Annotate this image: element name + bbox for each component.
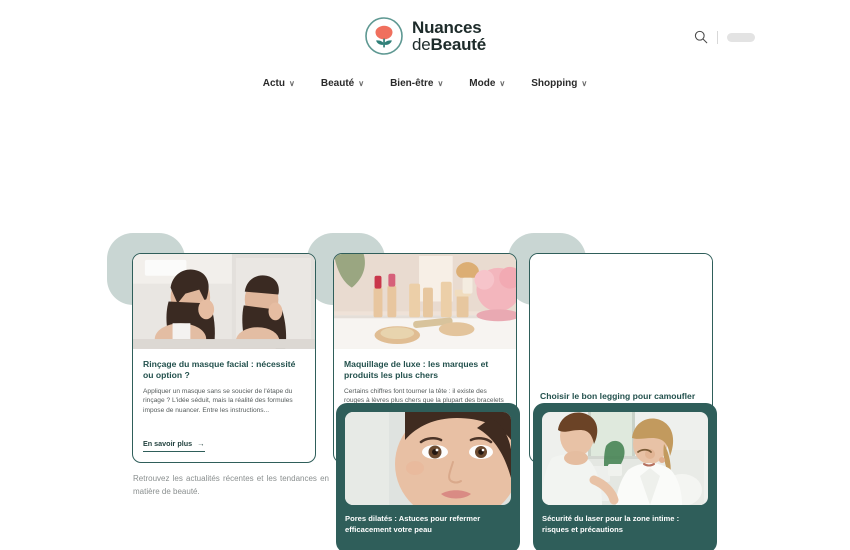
card-excerpt: Appliquer un masque sans se soucier de l… bbox=[143, 387, 305, 416]
site-logo[interactable]: Nuances deBeauté bbox=[364, 16, 486, 56]
nav-item-label: Beauté bbox=[321, 78, 354, 89]
account-pill-placeholder[interactable] bbox=[727, 33, 755, 42]
card-cta-wrap: En savoir plus → bbox=[133, 433, 315, 462]
logo-wordmark: Nuances deBeauté bbox=[412, 19, 486, 53]
section-description: Retrouvez les actualités récentes et les… bbox=[133, 473, 329, 499]
nav-item-beaute[interactable]: Beauté ∨ bbox=[321, 78, 364, 89]
chevron-down-icon: ∨ bbox=[358, 80, 364, 88]
nav-item-label: Shopping bbox=[531, 78, 577, 89]
read-more-link[interactable]: En savoir plus → bbox=[143, 439, 205, 452]
card-body: Rinçage du masque facial : nécessité ou … bbox=[133, 350, 315, 433]
actu-card-title: Pores dilatés : Astuces pour refermer ef… bbox=[345, 513, 511, 535]
chevron-down-icon: ∨ bbox=[581, 80, 587, 88]
actu-section: Actu Retrouvez les actualités récentes e… bbox=[0, 403, 850, 550]
card-image-placeholder-empty bbox=[530, 254, 712, 382]
card-title: Rinçage du masque facial : nécessité ou … bbox=[143, 359, 305, 382]
nav-item-shopping[interactable]: Shopping ∨ bbox=[531, 78, 587, 89]
logo-de: de bbox=[412, 35, 431, 54]
site-header: Nuances deBeauté bbox=[0, 0, 850, 70]
nav-item-label: Bien-être bbox=[390, 78, 433, 89]
chevron-down-icon: ∨ bbox=[437, 80, 443, 88]
featured-cards-row: Rinçage du masque facial : nécessité ou … bbox=[0, 115, 850, 355]
nav-item-bien-etre[interactable]: Bien-être ∨ bbox=[390, 78, 443, 89]
actu-card[interactable]: Pores dilatés : Astuces pour refermer ef… bbox=[336, 403, 520, 550]
card-title: Maquillage de luxe : les marques et prod… bbox=[344, 359, 506, 382]
read-more-label: En savoir plus bbox=[143, 439, 192, 448]
page-root: Nuances deBeauté Actu ∨ Beauté ∨ Bien-êt… bbox=[0, 0, 850, 550]
featured-card[interactable]: Rinçage du masque facial : nécessité ou … bbox=[132, 253, 316, 463]
tulip-flower-icon bbox=[364, 16, 404, 56]
nav-item-label: Actu bbox=[263, 78, 285, 89]
nav-item-label: Mode bbox=[469, 78, 495, 89]
nav-item-mode[interactable]: Mode ∨ bbox=[469, 78, 505, 89]
main-navigation: Actu ∨ Beauté ∨ Bien-être ∨ Mode ∨ Shopp… bbox=[0, 78, 850, 89]
card-image-luxury-lipsticks bbox=[334, 254, 516, 350]
arrow-right-icon: → bbox=[197, 439, 205, 448]
nav-item-actu[interactable]: Actu ∨ bbox=[263, 78, 295, 89]
chevron-down-icon: ∨ bbox=[499, 80, 505, 88]
header-divider bbox=[717, 31, 718, 44]
chevron-down-icon: ∨ bbox=[289, 80, 295, 88]
search-icon[interactable] bbox=[694, 30, 708, 44]
actu-card-title: Sécurité du laser pour la zone intime : … bbox=[542, 513, 708, 535]
actu-card-image-pores bbox=[345, 412, 511, 505]
logo-line-1: Nuances bbox=[412, 19, 486, 36]
actu-card[interactable]: Sécurité du laser pour la zone intime : … bbox=[533, 403, 717, 550]
logo-beaute: Beauté bbox=[431, 35, 487, 54]
header-actions bbox=[694, 30, 755, 44]
logo-line-2: deBeauté bbox=[412, 36, 486, 53]
card-image-woman-washing-face bbox=[133, 254, 315, 350]
actu-card-image-laser-consultation bbox=[542, 412, 708, 505]
